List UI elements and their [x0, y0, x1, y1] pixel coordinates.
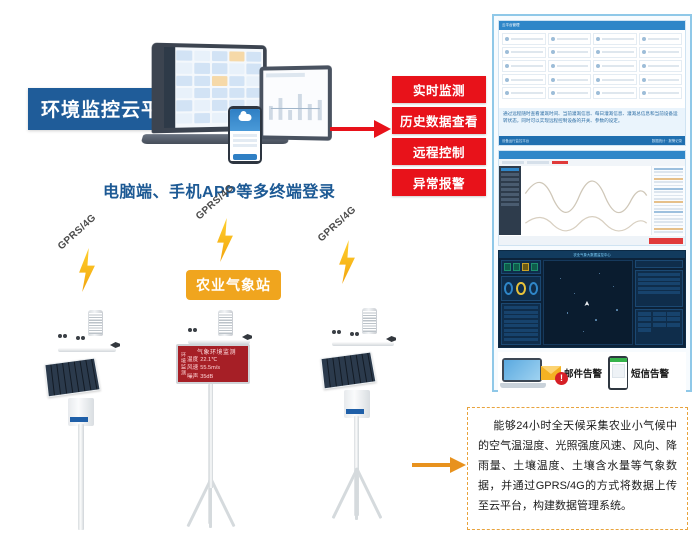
map-marker-icon: [584, 301, 589, 306]
feature-tag-realtime[interactable]: 实时监测: [392, 76, 486, 103]
envelope-icon: !: [541, 366, 561, 380]
solar-panel-3: [320, 352, 376, 390]
dark-screen-body: [499, 258, 685, 347]
dashboard-screen: 云平台管理 通过远程随时查看灌溉时间、当前灌溉信息、每日灌溉信息、灌溉总信息和当…: [498, 20, 686, 146]
gauge-ring-3: [529, 282, 538, 295]
dark-monitoring-screen: 农业气象大数据监控中心: [498, 250, 686, 348]
led-row-temperature-name: 温度: [187, 356, 198, 364]
feature-tag-history[interactable]: 历史数据查看: [392, 107, 486, 134]
dark-left-column: [501, 260, 541, 345]
dark-right-column: [635, 260, 683, 345]
chart-screen-titlebar: [499, 151, 685, 159]
led-display-board: 环境监测 气象环境监测 温度 22.1℃ 风速 55.5m/s 噪声 35dB: [176, 344, 250, 384]
sensor-crossarm-1: [58, 348, 116, 352]
dark-screen-titlebar: 农业气象大数据监控中心: [499, 251, 685, 258]
multi-device-illustration: [140, 38, 340, 183]
feature-tag-alarm[interactable]: 异常报警: [392, 169, 486, 196]
station-badge: 农业气象站: [186, 270, 281, 300]
dashboard-footer-right: 数据统计 · 报警记录: [652, 138, 682, 143]
led-row-temperature-value: 22.1℃: [200, 356, 217, 364]
sms-alert-unit: 短信告警: [608, 356, 669, 390]
email-alert-unit: ! 邮件告警: [502, 358, 602, 388]
dark-right-cells: [635, 309, 683, 346]
tripod-leg-3c: [355, 468, 358, 520]
chart-export-button[interactable]: [649, 238, 683, 244]
radiation-shield-2: [218, 310, 233, 336]
led-row-noise-value: 35dB: [200, 373, 213, 381]
radiation-shield-3: [362, 308, 377, 334]
dark-map-panel: [543, 260, 633, 345]
chart-plot-area: [521, 166, 651, 235]
transmission-label-3-text: GPRS/4G: [316, 204, 358, 244]
dashboard-header-title: 云平台管理: [502, 23, 520, 28]
tripod-leg-2b: [209, 477, 235, 527]
chart-screen-tabs: [499, 159, 685, 166]
gauge-ring-1: [504, 282, 513, 295]
weather-station-1: [24, 306, 144, 532]
alert-channels-row: ! 邮件告警 短信告警: [498, 352, 686, 394]
led-row-noise-name: 噪声: [187, 373, 198, 381]
dashboard-footer-left: 设备运行监控平台: [502, 138, 529, 143]
anemometer-1: [58, 334, 67, 339]
dashboard-caption: 通过远程随时查看灌溉时间、当前灌溉信息、每日灌溉信息、灌溉总信息和当前设备运转状…: [499, 108, 685, 136]
lightning-bolt-icon: [336, 240, 358, 284]
tablet-screen-chart: [267, 86, 324, 121]
led-display-side-label: 环境监测: [178, 352, 187, 376]
sensor-crossarm-3: [332, 342, 394, 346]
lightning-bolt-icon: [76, 248, 98, 292]
phone-login-button: [233, 154, 257, 160]
chart-curves: [521, 166, 651, 235]
led-row-windspeed-name: 风速: [187, 364, 198, 372]
anemometer-3: [332, 330, 341, 335]
tripod-leg-3b: [355, 467, 382, 519]
laptop-screen-sidebar: [164, 47, 175, 128]
laptop-icon: [502, 358, 546, 388]
tablet-screen: [263, 69, 328, 136]
anemometer-2: [188, 328, 197, 333]
chart-screen-footer: [499, 236, 685, 245]
control-box-1: [68, 398, 94, 426]
transmission-label-2: GPRS/4G: [196, 206, 270, 276]
chart-screen-body: [499, 166, 685, 235]
led-row-windspeed: 风速 55.5m/s: [187, 364, 246, 372]
radiation-shield-1: [88, 310, 103, 336]
feature-tag-list: 实时监测 历史数据查看 远程控制 异常报警: [392, 76, 486, 196]
lightning-bolt-icon: [214, 218, 236, 262]
weather-station-3: [306, 302, 426, 528]
feature-description-note: 能够24小时全天候采集农业小气候中的空气温湿度、光照强度风速、风向、降雨量、土壤…: [467, 407, 688, 530]
phone-screen: [230, 109, 260, 161]
anemometer-cup-1b: [76, 336, 85, 341]
mounting-pole-1: [78, 424, 84, 530]
infographic-canvas: 环境监控云平台: [0, 0, 700, 538]
red-flow-arrow: [330, 124, 392, 134]
control-box-3: [344, 390, 370, 418]
history-chart-screen: [498, 150, 686, 246]
tablet-screen-header: [266, 73, 304, 78]
solar-panel-1: [44, 358, 100, 398]
dark-gauge-panel: [501, 276, 541, 301]
dashboard-header: 云平台管理: [499, 21, 685, 30]
led-display-title: 气象环境监测: [187, 347, 246, 356]
anemometer-cup-3b: [350, 332, 359, 337]
dark-right-banner: [635, 260, 683, 268]
phone-screen-fields: [230, 131, 260, 150]
phone-icon: [608, 356, 628, 390]
led-display-post: [209, 384, 213, 488]
dark-screen-title: 农业气象大数据监控中心: [573, 252, 610, 257]
cloud-icon: [239, 114, 252, 121]
dashboard-card-grid: [499, 30, 685, 102]
cloud-platform-screens-panel: 云平台管理 通过远程随时查看灌溉时间、当前灌溉信息、每日灌溉信息、灌溉总信息和当…: [492, 14, 692, 392]
feature-tag-remote-control[interactable]: 远程控制: [392, 138, 486, 165]
transmission-label-1: GPRS/4G: [58, 236, 132, 306]
phone-screen-header: [230, 109, 260, 131]
chart-log-panel: [651, 166, 685, 235]
led-row-windspeed-value: 55.5m/s: [200, 364, 220, 372]
led-row-noise: 噪声 35dB: [187, 373, 246, 381]
dark-left-table: [501, 303, 541, 345]
tablet-illustration: [259, 65, 331, 140]
gauge-ring-2: [516, 282, 525, 295]
dark-status-chips: [501, 260, 541, 274]
led-row-temperature: 温度 22.1℃: [187, 356, 246, 364]
transmission-label-1-text: GPRS/4G: [56, 212, 98, 252]
chart-screen-sidebar: [499, 166, 521, 235]
email-alert-label: 邮件告警: [564, 366, 602, 380]
transmission-label-3: GPRS/4G: [318, 228, 392, 298]
led-display-body: 气象环境监测 温度 22.1℃ 风速 55.5m/s 噪声 35dB: [187, 345, 248, 383]
dashboard-footer: 设备运行监控平台 数据统计 · 报警记录: [499, 136, 685, 145]
dark-right-table: [635, 270, 683, 307]
sms-alert-label: 短信告警: [631, 366, 669, 380]
alert-badge-icon: !: [555, 372, 568, 385]
phone-illustration: [228, 106, 262, 164]
